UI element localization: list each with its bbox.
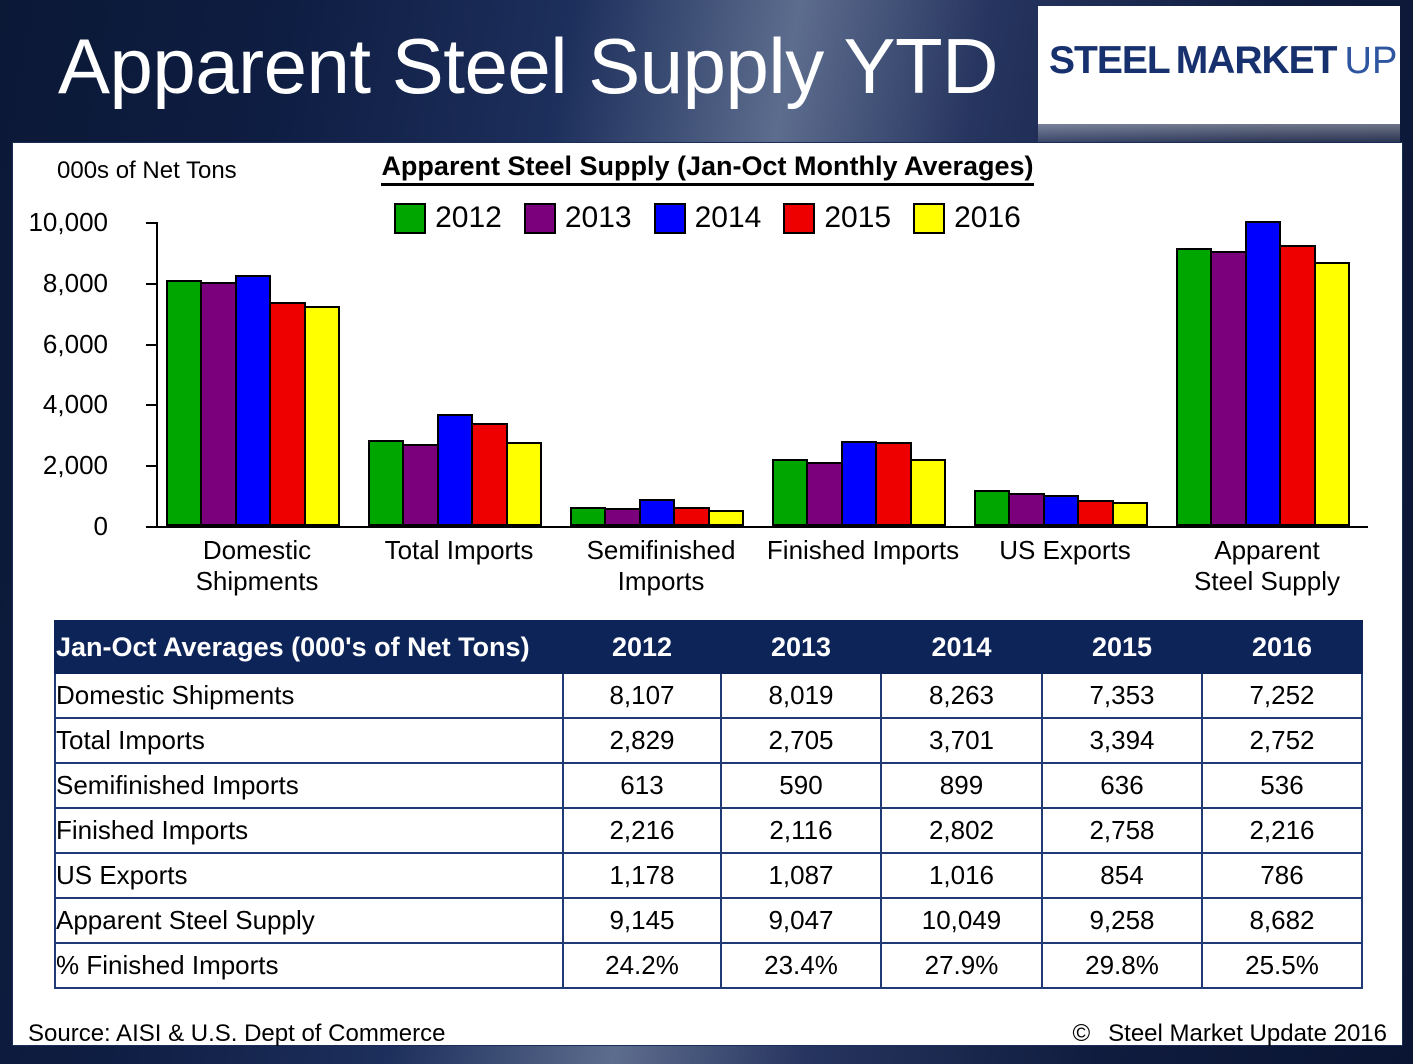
- table-cell-6-4: 25.5%: [1202, 943, 1362, 988]
- footer-copyright: ©Steel Market Update 2016: [1072, 1020, 1387, 1048]
- table-cell-1-3: 3,394: [1042, 718, 1202, 763]
- table-cell-6-1: 23.4%: [721, 943, 881, 988]
- table-cell-5-3: 9,258: [1042, 898, 1202, 943]
- table-cell-5-1: 9,047: [721, 898, 881, 943]
- table-row-label: Total Imports: [55, 718, 563, 763]
- y-tick-label-10000: 10,000: [0, 207, 108, 238]
- x-axis-label-4: US Exports: [964, 535, 1166, 566]
- bar-2014-2: [639, 499, 676, 526]
- y-tick-4000: [146, 404, 156, 406]
- y-tick-label-2000: 2,000: [0, 450, 108, 481]
- table-cell-5-2: 10,049: [881, 898, 1042, 943]
- table-cell-4-1: 1,087: [721, 853, 881, 898]
- table-row-label: % Finished Imports: [55, 943, 563, 988]
- table-cell-4-2: 1,016: [881, 853, 1042, 898]
- bar-2012-1: [368, 440, 405, 526]
- table-cell-1-0: 2,829: [563, 718, 721, 763]
- bar-2013-3: [806, 462, 843, 526]
- bar-2012-2: [570, 507, 607, 526]
- x-axis-label-line: Shipments: [156, 566, 358, 597]
- table-cell-5-4: 8,682: [1202, 898, 1362, 943]
- table-cell-4-0: 1,178: [563, 853, 721, 898]
- table-row-label: Finished Imports: [55, 808, 563, 853]
- table-header-2014: 2014: [881, 621, 1042, 673]
- table-cell-2-2: 899: [881, 763, 1042, 808]
- bar-2012-0: [166, 280, 203, 526]
- bar-2016-4: [1112, 502, 1149, 526]
- table-cell-0-1: 8,019: [721, 673, 881, 718]
- table-cell-6-3: 29.8%: [1042, 943, 1202, 988]
- bar-2014-0: [235, 275, 272, 526]
- table-cell-3-4: 2,216: [1202, 808, 1362, 853]
- table-cell-5-0: 9,145: [563, 898, 721, 943]
- x-axis-label-line: Total Imports: [358, 535, 560, 566]
- table-header-row: Jan-Oct Averages (000's of Net Tons) 201…: [55, 621, 1362, 673]
- bar-2015-4: [1077, 500, 1114, 526]
- table-cell-1-4: 2,752: [1202, 718, 1362, 763]
- bar-2016-0: [304, 306, 341, 526]
- table-header-label: Jan-Oct Averages (000's of Net Tons): [55, 621, 563, 673]
- footer-source: Source: AISI & U.S. Dept of Commerce: [28, 1020, 446, 1048]
- x-axis-label-3: Finished Imports: [762, 535, 964, 566]
- bar-2016-5: [1314, 262, 1351, 526]
- data-table: Jan-Oct Averages (000's of Net Tons) 201…: [54, 620, 1363, 989]
- y-tick-6000: [146, 344, 156, 346]
- y-tick-label-0: 0: [0, 511, 108, 542]
- table-row: Domestic Shipments8,1078,0198,2637,3537,…: [55, 673, 1362, 718]
- plot-area: 02,0004,0006,0008,00010,000: [156, 222, 1368, 526]
- chart-title: Apparent Steel Supply (Jan-Oct Monthly A…: [13, 151, 1402, 182]
- table-cell-6-2: 27.9%: [881, 943, 1042, 988]
- bar-group-3: [772, 222, 957, 526]
- bar-2014-1: [437, 414, 474, 527]
- table-cell-4-4: 786: [1202, 853, 1362, 898]
- bar-2016-1: [506, 442, 543, 526]
- table-cell-3-3: 2,758: [1042, 808, 1202, 853]
- x-axis-line: [156, 526, 1368, 528]
- steel-market-update-logo: STEELMARKETUPDATE: [1038, 6, 1400, 124]
- table-header-2013: 2013: [721, 621, 881, 673]
- bar-2014-3: [841, 441, 878, 526]
- x-axis-label-2: SemifinishedImports: [560, 535, 762, 597]
- table-cell-1-1: 2,705: [721, 718, 881, 763]
- bar-group-0: [166, 222, 351, 526]
- table-header: Jan-Oct Averages (000's of Net Tons) 201…: [55, 621, 1362, 673]
- bar-2016-3: [910, 459, 947, 526]
- logo-word-steel: STEEL: [1049, 40, 1170, 82]
- table-row-label: US Exports: [55, 853, 563, 898]
- table-cell-3-1: 2,116: [721, 808, 881, 853]
- bar-2013-4: [1008, 493, 1045, 526]
- bar-2016-2: [708, 510, 745, 526]
- bar-2012-5: [1176, 248, 1213, 526]
- footer-copyright-text: Steel Market Update 2016: [1108, 1020, 1387, 1047]
- bar-2012-3: [772, 459, 809, 526]
- bar-2013-0: [200, 282, 237, 526]
- table-row: Total Imports2,8292,7053,7013,3942,752: [55, 718, 1362, 763]
- table-cell-2-4: 536: [1202, 763, 1362, 808]
- bar-2014-5: [1245, 221, 1282, 526]
- x-axis-label-line: Finished Imports: [762, 535, 964, 566]
- bar-2015-3: [875, 442, 912, 526]
- table-cell-0-4: 7,252: [1202, 673, 1362, 718]
- table-cell-6-0: 24.2%: [563, 943, 721, 988]
- bar-chart: 000s of Net Tons Apparent Steel Supply (…: [13, 143, 1402, 606]
- table-row: Semifinished Imports613590899636536: [55, 763, 1362, 808]
- table-header-2012: 2012: [563, 621, 721, 673]
- x-axis-label-line: Semifinished: [560, 535, 762, 566]
- bar-2013-1: [402, 444, 439, 526]
- table-cell-2-3: 636: [1042, 763, 1202, 808]
- bar-group-5: [1176, 222, 1361, 526]
- bar-group-2: [570, 222, 755, 526]
- x-axis-label-line: Apparent: [1166, 535, 1368, 566]
- x-axis-label-0: DomesticShipments: [156, 535, 358, 597]
- table-header-2015: 2015: [1042, 621, 1202, 673]
- slide-canvas: Apparent Steel Supply YTD STEELMARKETUPD…: [0, 0, 1413, 1064]
- bar-2015-2: [673, 507, 710, 526]
- y-tick-label-4000: 4,000: [0, 389, 108, 420]
- table-cell-3-2: 2,802: [881, 808, 1042, 853]
- x-axis-label-line: Domestic: [156, 535, 358, 566]
- bar-2013-5: [1210, 251, 1247, 526]
- table-row: Finished Imports2,2162,1162,8022,7582,21…: [55, 808, 1362, 853]
- table-cell-0-3: 7,353: [1042, 673, 1202, 718]
- y-tick-0: [146, 526, 156, 528]
- content-panel: 000s of Net Tons Apparent Steel Supply (…: [12, 142, 1403, 1046]
- table-cell-3-0: 2,216: [563, 808, 721, 853]
- y-tick-10000: [146, 222, 156, 224]
- bar-2012-4: [974, 490, 1011, 526]
- table-cell-4-3: 854: [1042, 853, 1202, 898]
- bar-2015-0: [269, 302, 306, 526]
- bar-2015-5: [1279, 245, 1316, 526]
- y-tick-8000: [146, 283, 156, 285]
- logo-word-update: UPDATE: [1345, 40, 1400, 82]
- page-title: Apparent Steel Supply YTD: [58, 22, 998, 110]
- bar-2014-4: [1043, 495, 1080, 526]
- chart-title-text: Apparent Steel Supply (Jan-Oct Monthly A…: [381, 151, 1033, 186]
- table-cell-2-1: 590: [721, 763, 881, 808]
- table-row: US Exports1,1781,0871,016854786: [55, 853, 1362, 898]
- table-row-label: Semifinished Imports: [55, 763, 563, 808]
- x-axis-label-line: Steel Supply: [1166, 566, 1368, 597]
- table-cell-0-2: 8,263: [881, 673, 1042, 718]
- table-cell-2-0: 613: [563, 763, 721, 808]
- bar-group-4: [974, 222, 1159, 526]
- y-tick-label-8000: 8,000: [0, 268, 108, 299]
- table-body: Domestic Shipments8,1078,0198,2637,3537,…: [55, 673, 1362, 988]
- bar-group-1: [368, 222, 553, 526]
- x-axis-label-5: ApparentSteel Supply: [1166, 535, 1368, 597]
- table-header-2016: 2016: [1202, 621, 1362, 673]
- x-axis-label-line: US Exports: [964, 535, 1166, 566]
- table-cell-0-0: 8,107: [563, 673, 721, 718]
- table-row: % Finished Imports24.2%23.4%27.9%29.8%25…: [55, 943, 1362, 988]
- table-row: Apparent Steel Supply9,1459,04710,0499,2…: [55, 898, 1362, 943]
- data-table-wrapper: Jan-Oct Averages (000's of Net Tons) 201…: [54, 620, 1361, 989]
- bar-2015-1: [471, 423, 508, 526]
- y-tick-label-6000: 6,000: [0, 329, 108, 360]
- table-row-label: Apparent Steel Supply: [55, 898, 563, 943]
- table-cell-1-2: 3,701: [881, 718, 1042, 763]
- x-axis-label-1: Total Imports: [358, 535, 560, 566]
- x-axis-label-line: Imports: [560, 566, 762, 597]
- logo-word-market: MARKET: [1176, 40, 1337, 82]
- y-tick-2000: [146, 465, 156, 467]
- copyright-icon: ©: [1072, 1020, 1090, 1047]
- bar-2013-2: [604, 508, 641, 526]
- table-row-label: Domestic Shipments: [55, 673, 563, 718]
